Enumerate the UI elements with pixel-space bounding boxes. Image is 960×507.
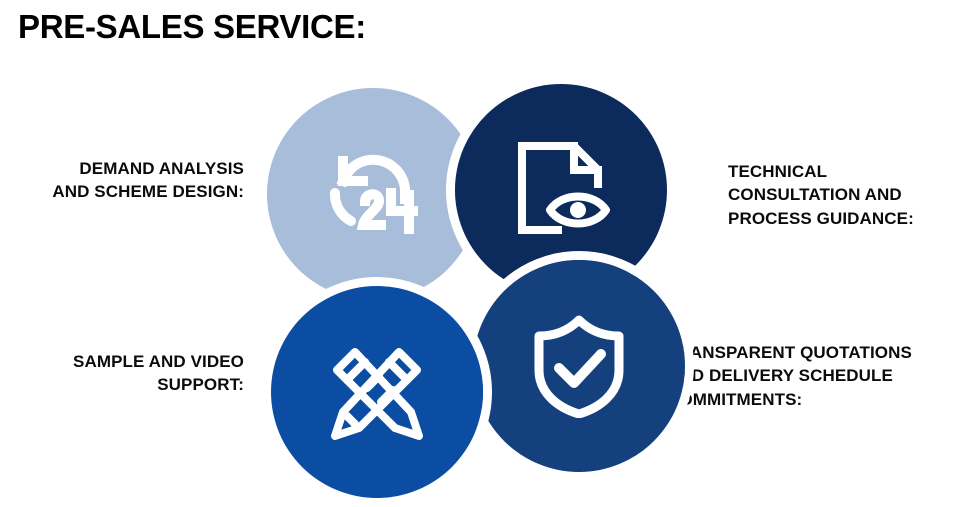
24-hour-rotate-icon	[267, 88, 479, 300]
shield-check-icon	[473, 260, 685, 472]
label-technical-consultation: TECHNICAL CONSULTATION AND PROCESS GUIDA…	[728, 160, 954, 230]
label-line: DEMAND ANALYSIS	[14, 157, 244, 180]
label-line: PROCESS GUIDANCE:	[728, 207, 954, 230]
label-sample-video-support: SAMPLE AND VIDEO SUPPORT:	[14, 350, 244, 397]
label-line: COMMITMENTS:	[667, 388, 959, 411]
label-line: TRANSPARENT QUOTATIONS	[667, 341, 959, 364]
label-line: SUPPORT:	[14, 373, 244, 396]
label-demand-analysis: DEMAND ANALYSIS AND SCHEME DESIGN:	[14, 157, 244, 204]
page-title: PRE-SALES SERVICE:	[18, 8, 366, 46]
pencil-ruler-icon	[271, 286, 483, 498]
circle-transparent-quotations[interactable]	[473, 260, 685, 472]
label-line: TECHNICAL	[728, 160, 954, 183]
circle-sample-video-support[interactable]	[271, 286, 483, 498]
label-line: CONSULTATION AND	[728, 183, 954, 206]
label-line: AND SCHEME DESIGN:	[14, 180, 244, 203]
circle-demand-analysis[interactable]	[267, 88, 479, 300]
label-transparent-quotations: TRANSPARENT QUOTATIONS AND DELIVERY SCHE…	[667, 341, 959, 411]
service-circle-cluster	[255, 78, 675, 488]
label-line: AND DELIVERY SCHEDULE	[667, 364, 959, 387]
label-line: SAMPLE AND VIDEO	[14, 350, 244, 373]
